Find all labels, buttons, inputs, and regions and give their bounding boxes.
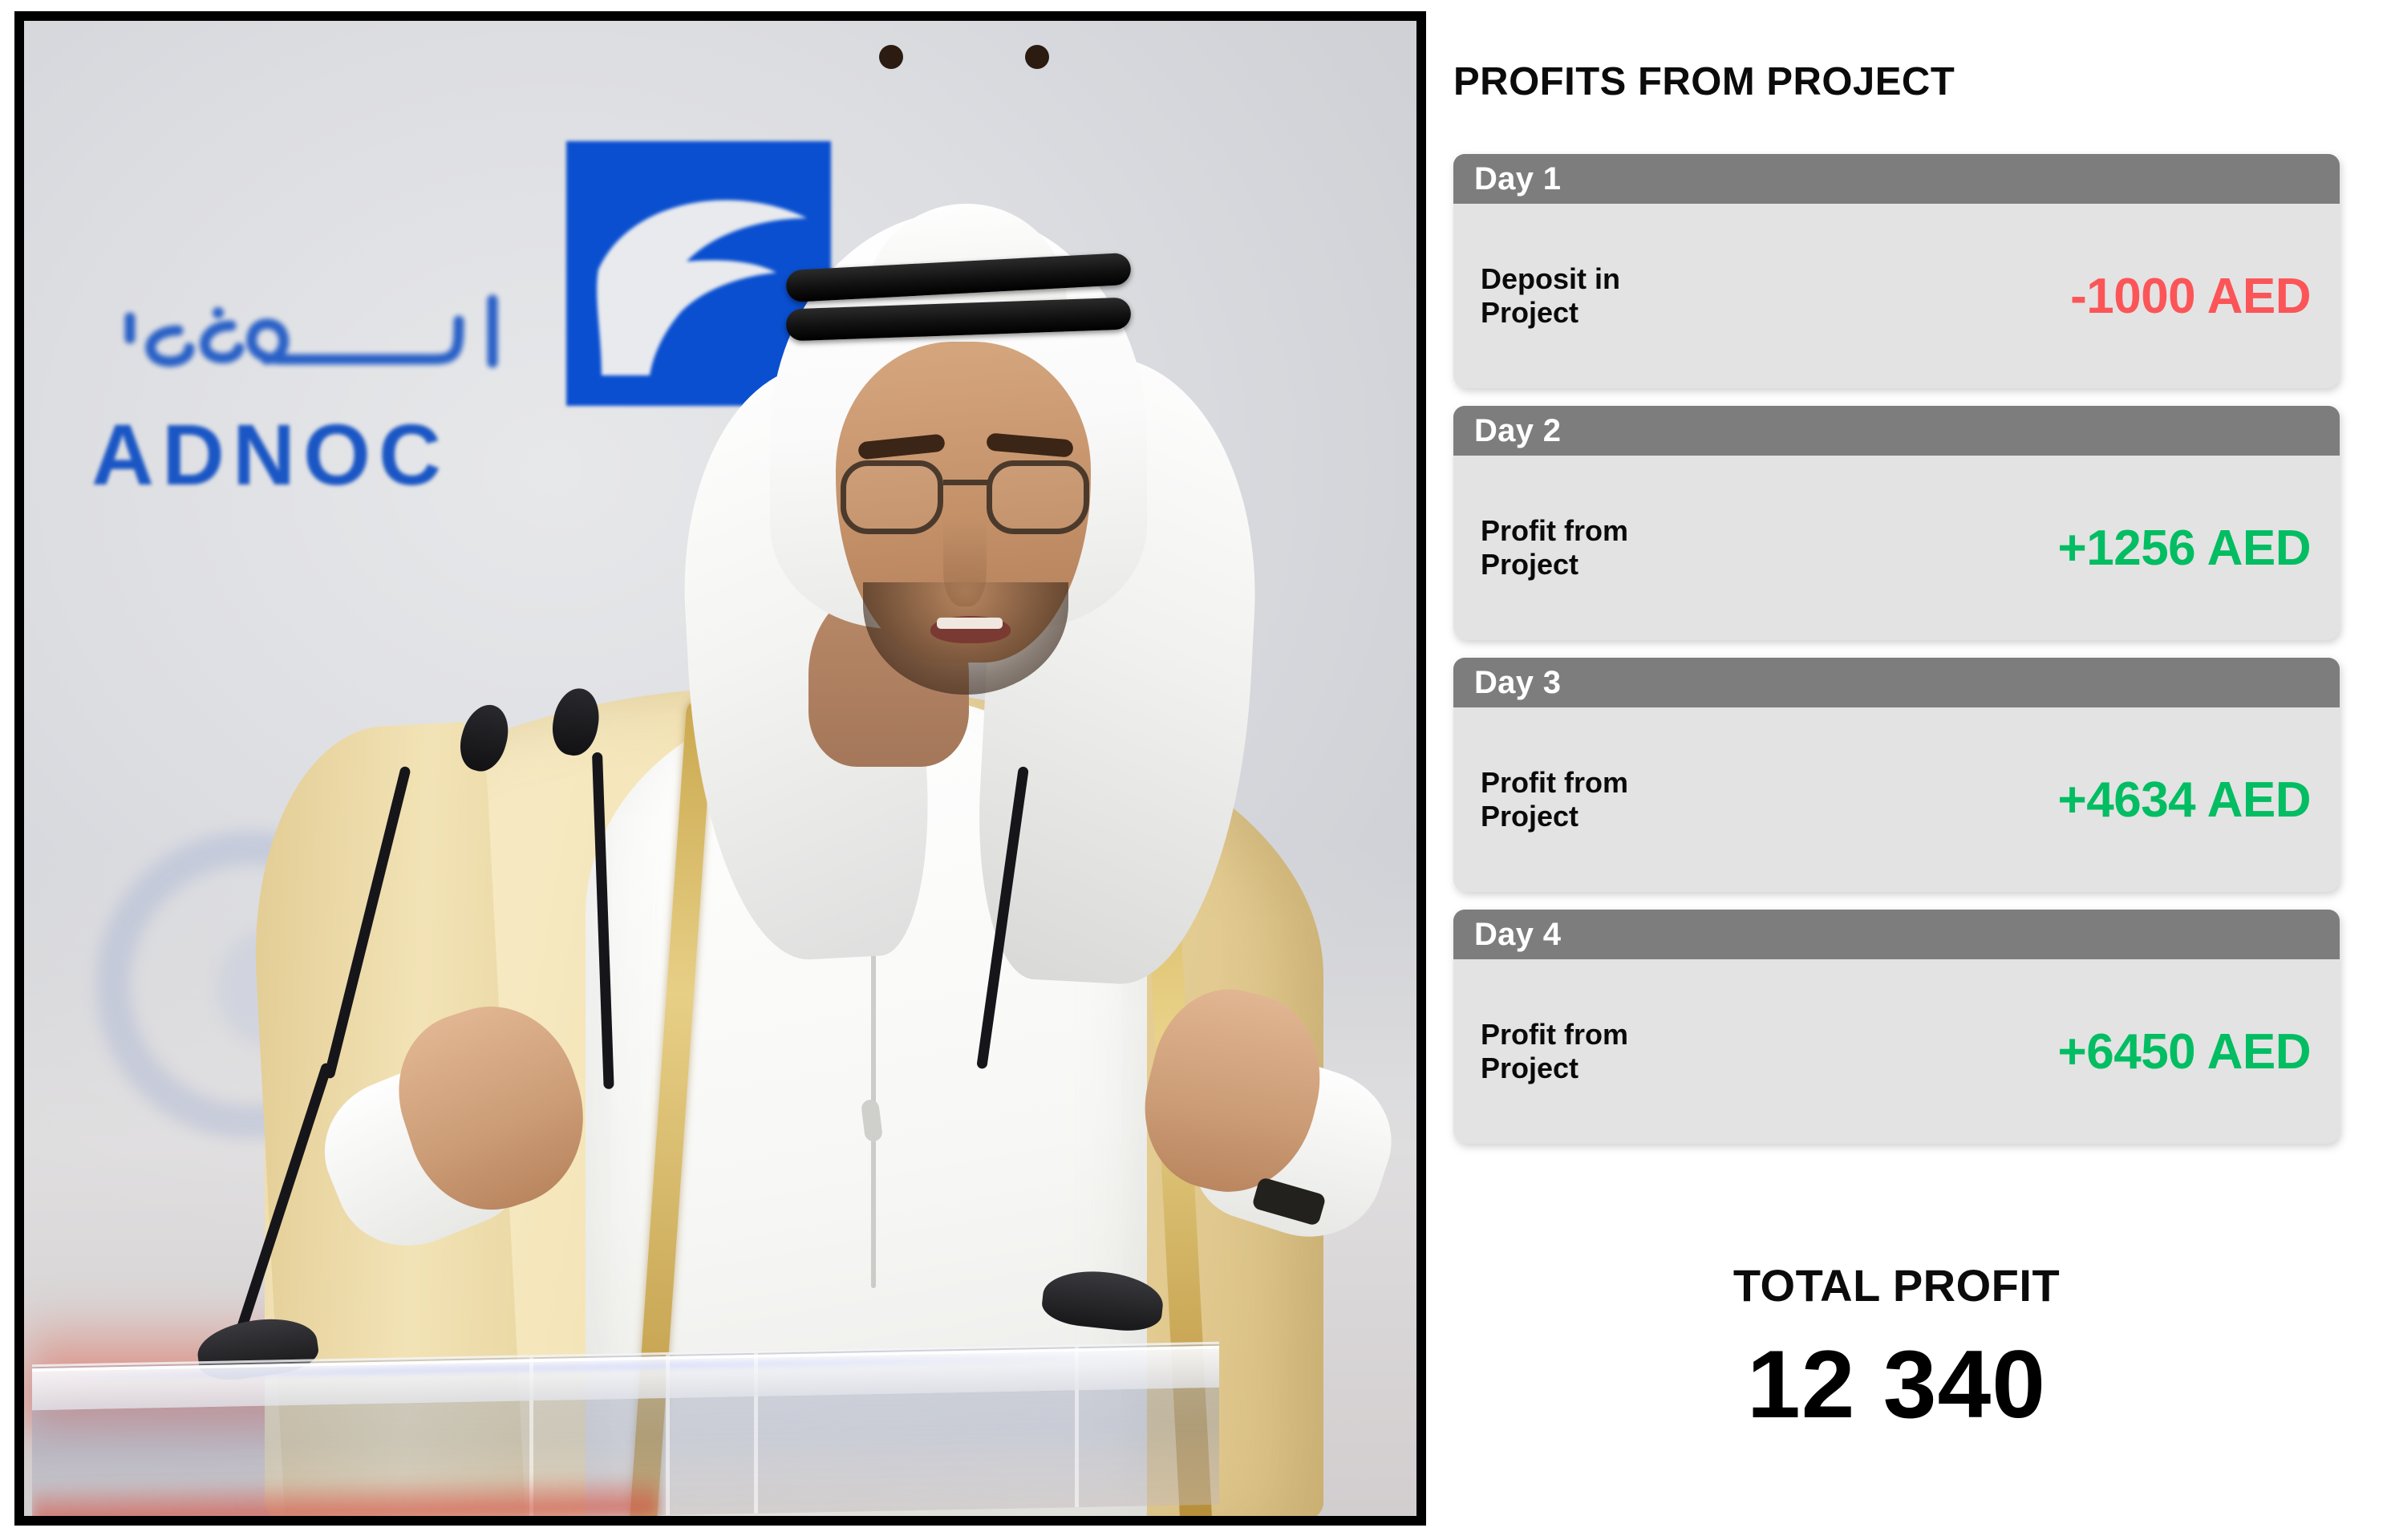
day-description: Deposit in Project [1481,262,1620,330]
day-card: Day 4 Profit from Project +6450 AED [1453,910,2340,1144]
day-card-header: Day 2 [1453,406,2340,456]
day-description: Profit from Project [1481,514,1628,582]
total-profit-value: 12 340 [1453,1329,2340,1440]
day-amount: +4634 AED [2058,772,2311,829]
day-description: Profit from Project [1481,1018,1628,1085]
day-label: Day 2 [1474,413,1561,449]
total-profit-label: TOTAL PROFIT [1453,1259,2340,1311]
page-root: ADNOC [0,0,2391,1540]
day-amount: +1256 AED [2058,520,2311,577]
day-card: Day 3 Profit from Project +4634 AED [1453,658,2340,892]
day-card-body: Profit from Project +6450 AED [1453,959,2340,1144]
day-cards-list: Day 1 Deposit in Project -1000 AED Day 2… [1453,154,2340,1161]
microphone-right [24,21,1416,1516]
day-card-header: Day 3 [1453,658,2340,707]
day-label: Day 1 [1474,161,1561,197]
profits-panel: PROFITS FROM PROJECT Day 1 Deposit in Pr… [1436,0,2391,1540]
day-amount: -1000 AED [2070,268,2311,325]
day-label: Day 4 [1474,917,1561,953]
day-description: Profit from Project [1481,766,1628,833]
day-amount: +6450 AED [2058,1023,2311,1080]
podium-red-reflection [32,1473,658,1516]
day-card-header: Day 1 [1453,154,2340,204]
page-title: PROFITS FROM PROJECT [1453,59,1955,104]
day-card-header: Day 4 [1453,910,2340,959]
day-label: Day 3 [1474,665,1561,701]
day-card: Day 2 Profit from Project +1256 AED [1453,406,2340,640]
speaker-photo: ADNOC [14,11,1426,1526]
day-card: Day 1 Deposit in Project -1000 AED [1453,154,2340,388]
day-card-body: Deposit in Project -1000 AED [1453,204,2340,388]
photo-pane: ADNOC [0,0,1436,1540]
day-card-body: Profit from Project +1256 AED [1453,456,2340,640]
total-profit-block: TOTAL PROFIT 12 340 [1453,1259,2340,1440]
day-card-body: Profit from Project +4634 AED [1453,707,2340,892]
